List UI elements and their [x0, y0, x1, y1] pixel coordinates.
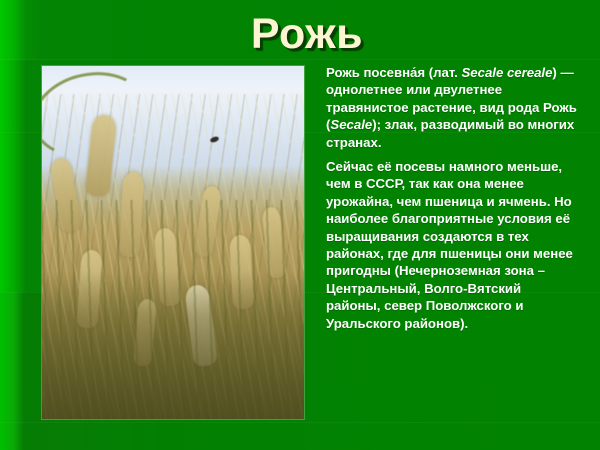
presentation-slide: Рожь Рожь посевна́я (лат. Secale cereale…: [0, 0, 600, 450]
background-seam: [0, 422, 600, 423]
photo-content: [42, 66, 304, 419]
paragraph-definition: Рожь посевна́я (лат. Secale cereale) — о…: [326, 64, 578, 151]
photo-field-shadow: [42, 271, 304, 419]
latin-name-secale: Secale: [330, 117, 372, 132]
rye-field-photo: [42, 66, 304, 419]
slide-title: Рожь: [0, 8, 600, 60]
slide-body-text: Рожь посевна́я (лат. Secale cereale) — о…: [326, 64, 578, 339]
latin-name-secale-cereale: Secale cereale: [461, 65, 552, 80]
paragraph-cultivation: Сейчас её посевы намного меньше, чем в С…: [326, 158, 578, 332]
paragraph1-part1: Рожь посевна́я (лат.: [326, 65, 461, 80]
